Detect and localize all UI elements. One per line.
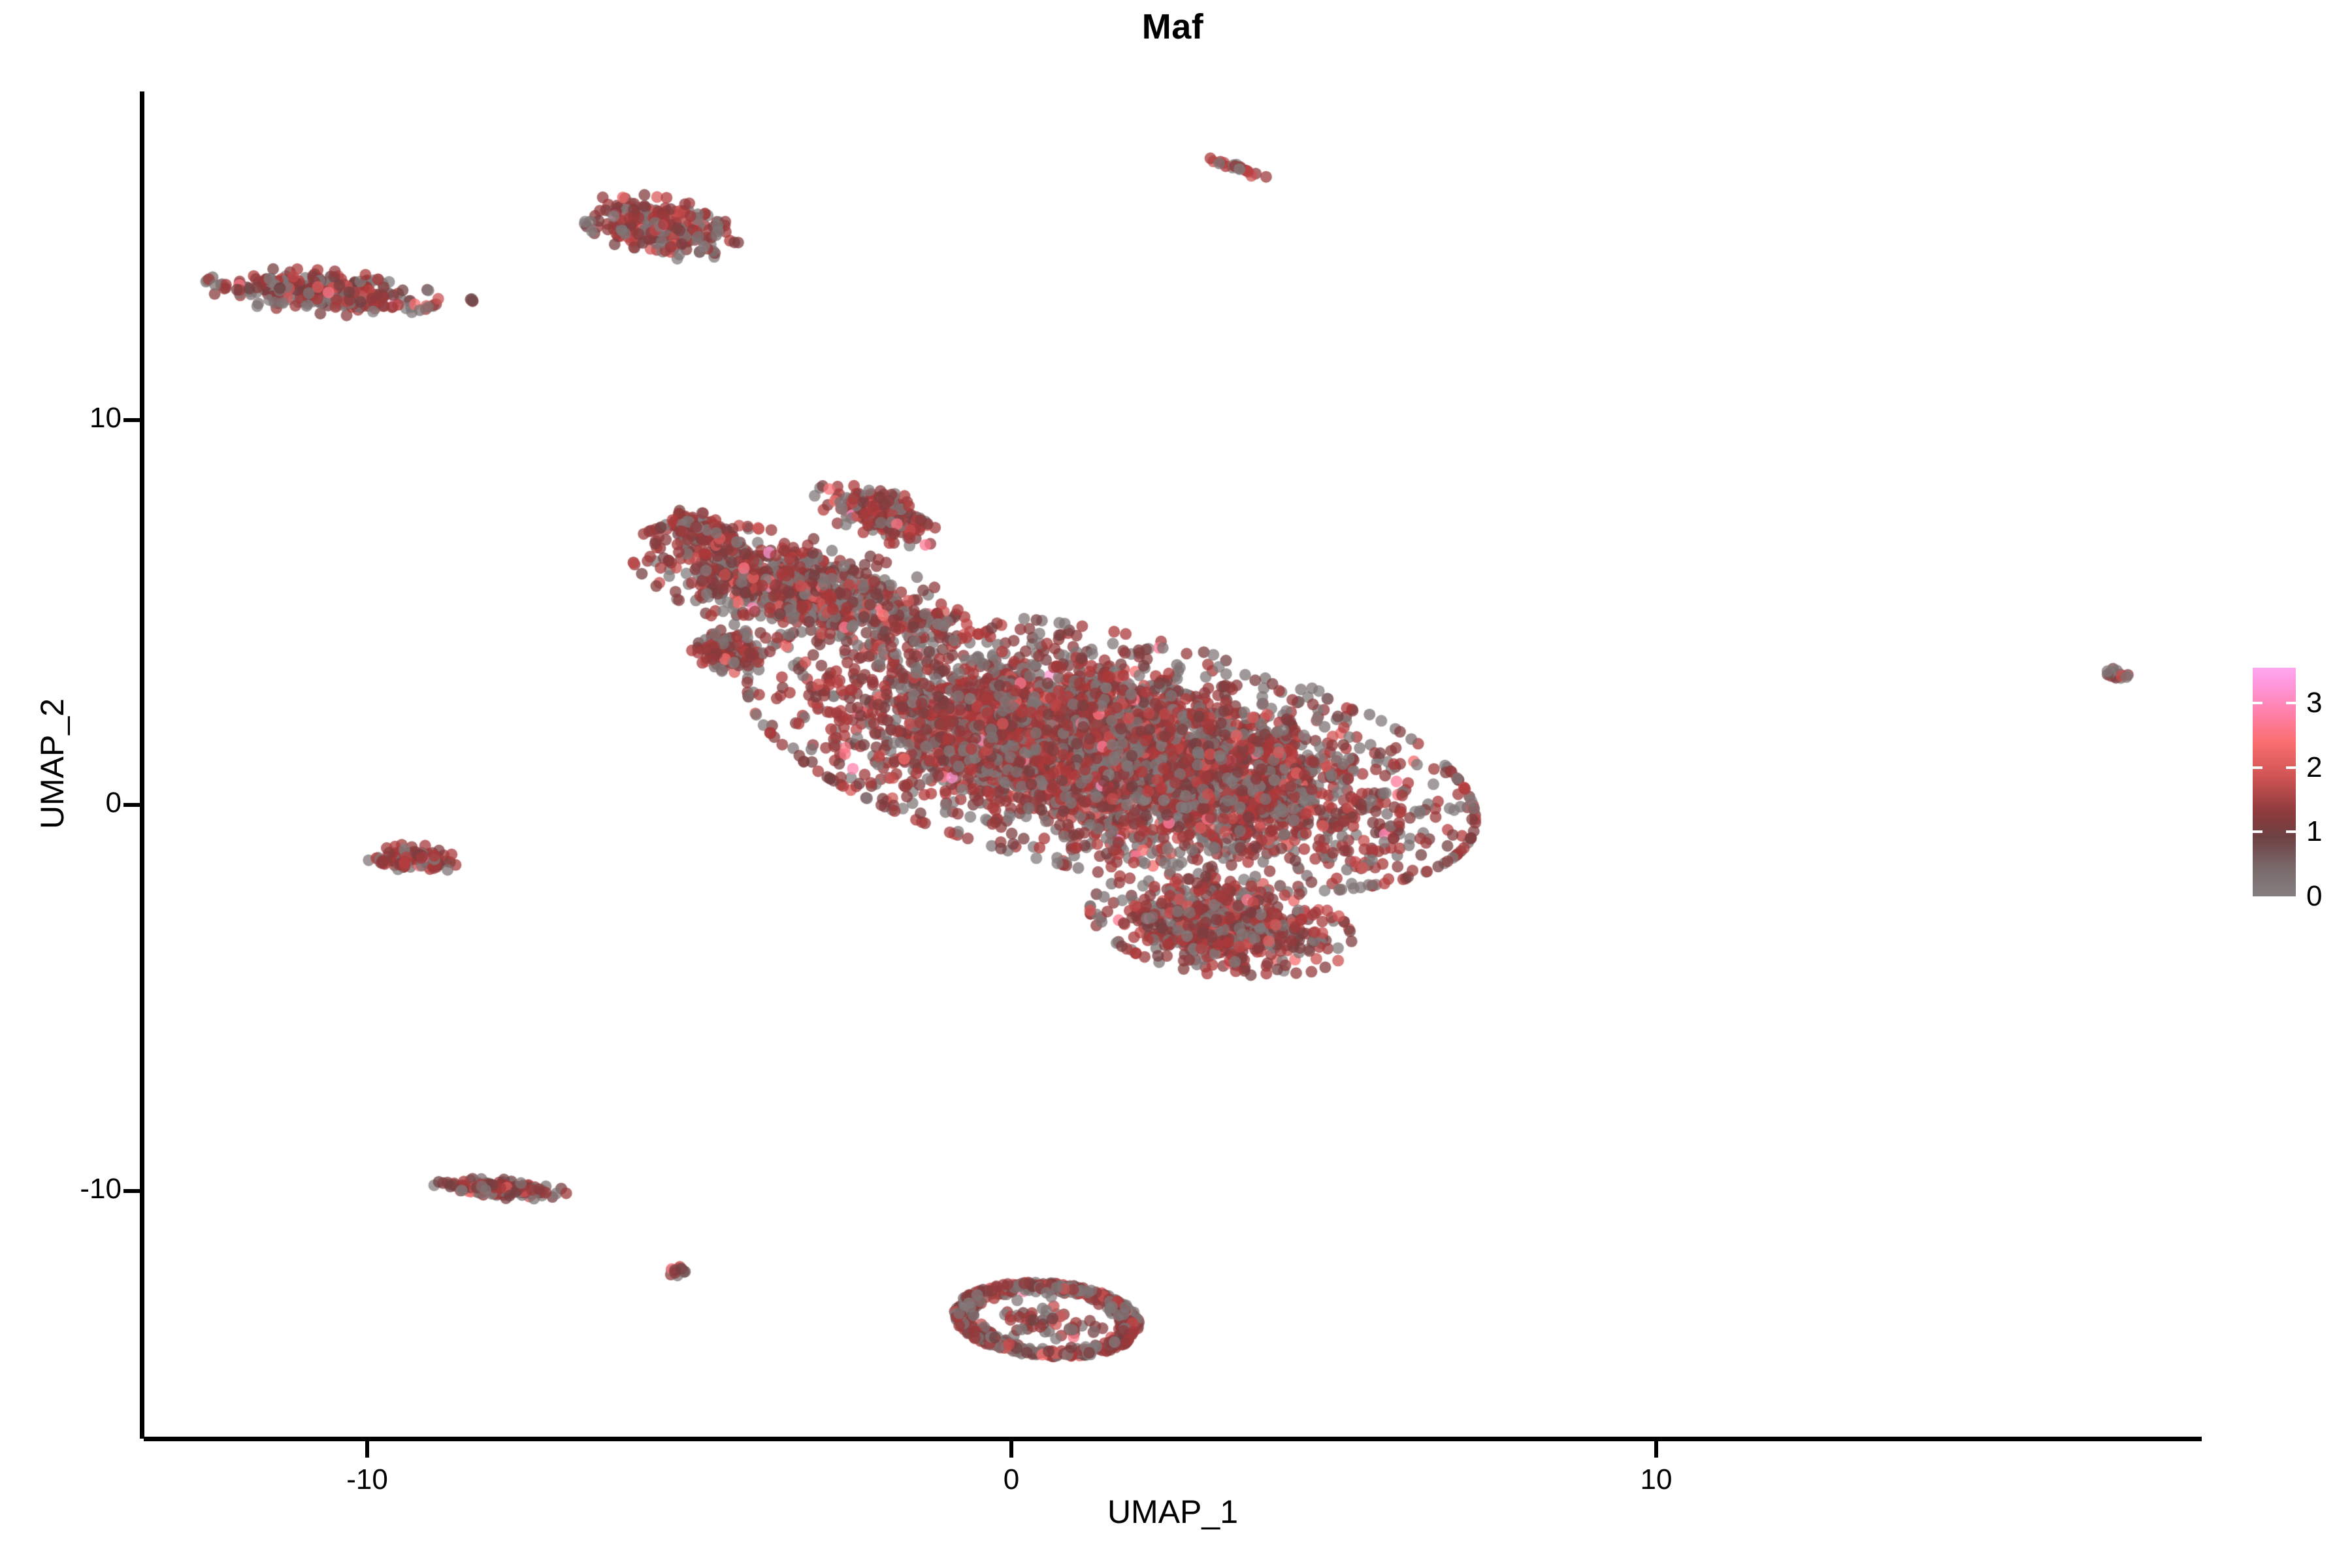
y-tick-label: 10 bbox=[90, 402, 122, 434]
y-axis-title: UMAP_2 bbox=[33, 110, 71, 1417]
y-tick-mark bbox=[123, 418, 140, 422]
legend-tick-mark bbox=[2286, 830, 2296, 833]
plot-panel bbox=[144, 91, 2202, 1439]
y-tick-label: -10 bbox=[80, 1173, 122, 1205]
y-tick-label: 0 bbox=[106, 787, 122, 819]
x-axis-title: UMAP_1 bbox=[0, 1493, 2349, 1531]
legend-tick-mark bbox=[2253, 702, 2262, 704]
legend-tick-mark bbox=[2286, 702, 2296, 704]
x-tick-mark bbox=[1009, 1441, 1013, 1458]
x-tick-label: -10 bbox=[346, 1463, 388, 1496]
x-axis-line bbox=[144, 1437, 2202, 1441]
umap-feature-plot: Maf 100-10 -10010 UMAP_1 UMAP_2 3210 bbox=[0, 0, 2352, 1568]
x-tick-mark bbox=[1654, 1441, 1658, 1458]
page-title: Maf bbox=[0, 7, 2349, 47]
legend-tick-label: 0 bbox=[2306, 880, 2322, 913]
legend-tick-mark bbox=[2286, 766, 2296, 769]
legend-tick-label: 2 bbox=[2306, 751, 2322, 784]
x-tick-mark bbox=[365, 1441, 369, 1458]
x-tick-label: 0 bbox=[1004, 1463, 1019, 1496]
y-axis-line bbox=[140, 91, 144, 1439]
scatter-points-canvas bbox=[144, 91, 2202, 1439]
x-tick-label: 10 bbox=[1641, 1463, 1673, 1496]
y-tick-mark bbox=[123, 1189, 140, 1193]
legend-tick-mark bbox=[2253, 766, 2262, 769]
legend-tick-label: 1 bbox=[2306, 815, 2322, 848]
color-legend: 3210 bbox=[2253, 668, 2338, 896]
legend-tick-label: 3 bbox=[2306, 687, 2322, 719]
legend-tick-mark bbox=[2253, 830, 2262, 833]
y-tick-mark bbox=[123, 803, 140, 807]
